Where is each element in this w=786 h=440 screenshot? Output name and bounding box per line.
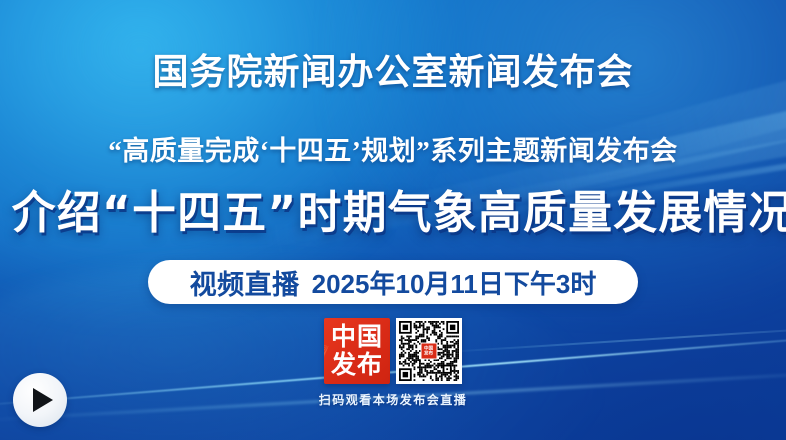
- brand-logo-line-1: 中国: [331, 325, 383, 350]
- qr-center-line-1: 中国: [424, 346, 433, 351]
- qr-center-line-2: 发布: [424, 351, 433, 356]
- live-badge-label: 视频直播: [190, 263, 300, 302]
- live-broadcast-badge[interactable]: 视频直播 2025年10月11日下午3时: [148, 260, 638, 304]
- footer-row: 中国 发布 中国 发布: [324, 318, 462, 384]
- qr-code-icon[interactable]: 中国 发布: [396, 318, 462, 384]
- qr-center-logo-icon: 中国 发布: [421, 343, 438, 360]
- page-title: 国务院新闻办公室新闻发布会: [0, 50, 786, 94]
- china-release-logo-icon: 中国 发布: [324, 318, 390, 384]
- scan-caption: 扫码观看本场发布会直播: [319, 391, 468, 408]
- play-button[interactable]: [13, 373, 67, 427]
- live-badge-datetime: 2025年10月11日下午3时: [312, 264, 597, 301]
- live-stream-poster: 国务院新闻办公室新闻发布会 “高质量完成‘十四五’规划”系列主题新闻发布会 介绍…: [0, 0, 786, 440]
- footer-block: 中国 发布 中国 发布 扫码观看本场发布会直播: [0, 318, 786, 408]
- page-subtitle: “高质量完成‘十四五’规划”系列主题新闻发布会: [0, 134, 786, 168]
- play-triangle-icon: [33, 388, 53, 412]
- brand-logo-line-2: 发布: [331, 353, 383, 378]
- page-headline: 介绍“十四五”时期气象高质量发展情况: [12, 184, 774, 242]
